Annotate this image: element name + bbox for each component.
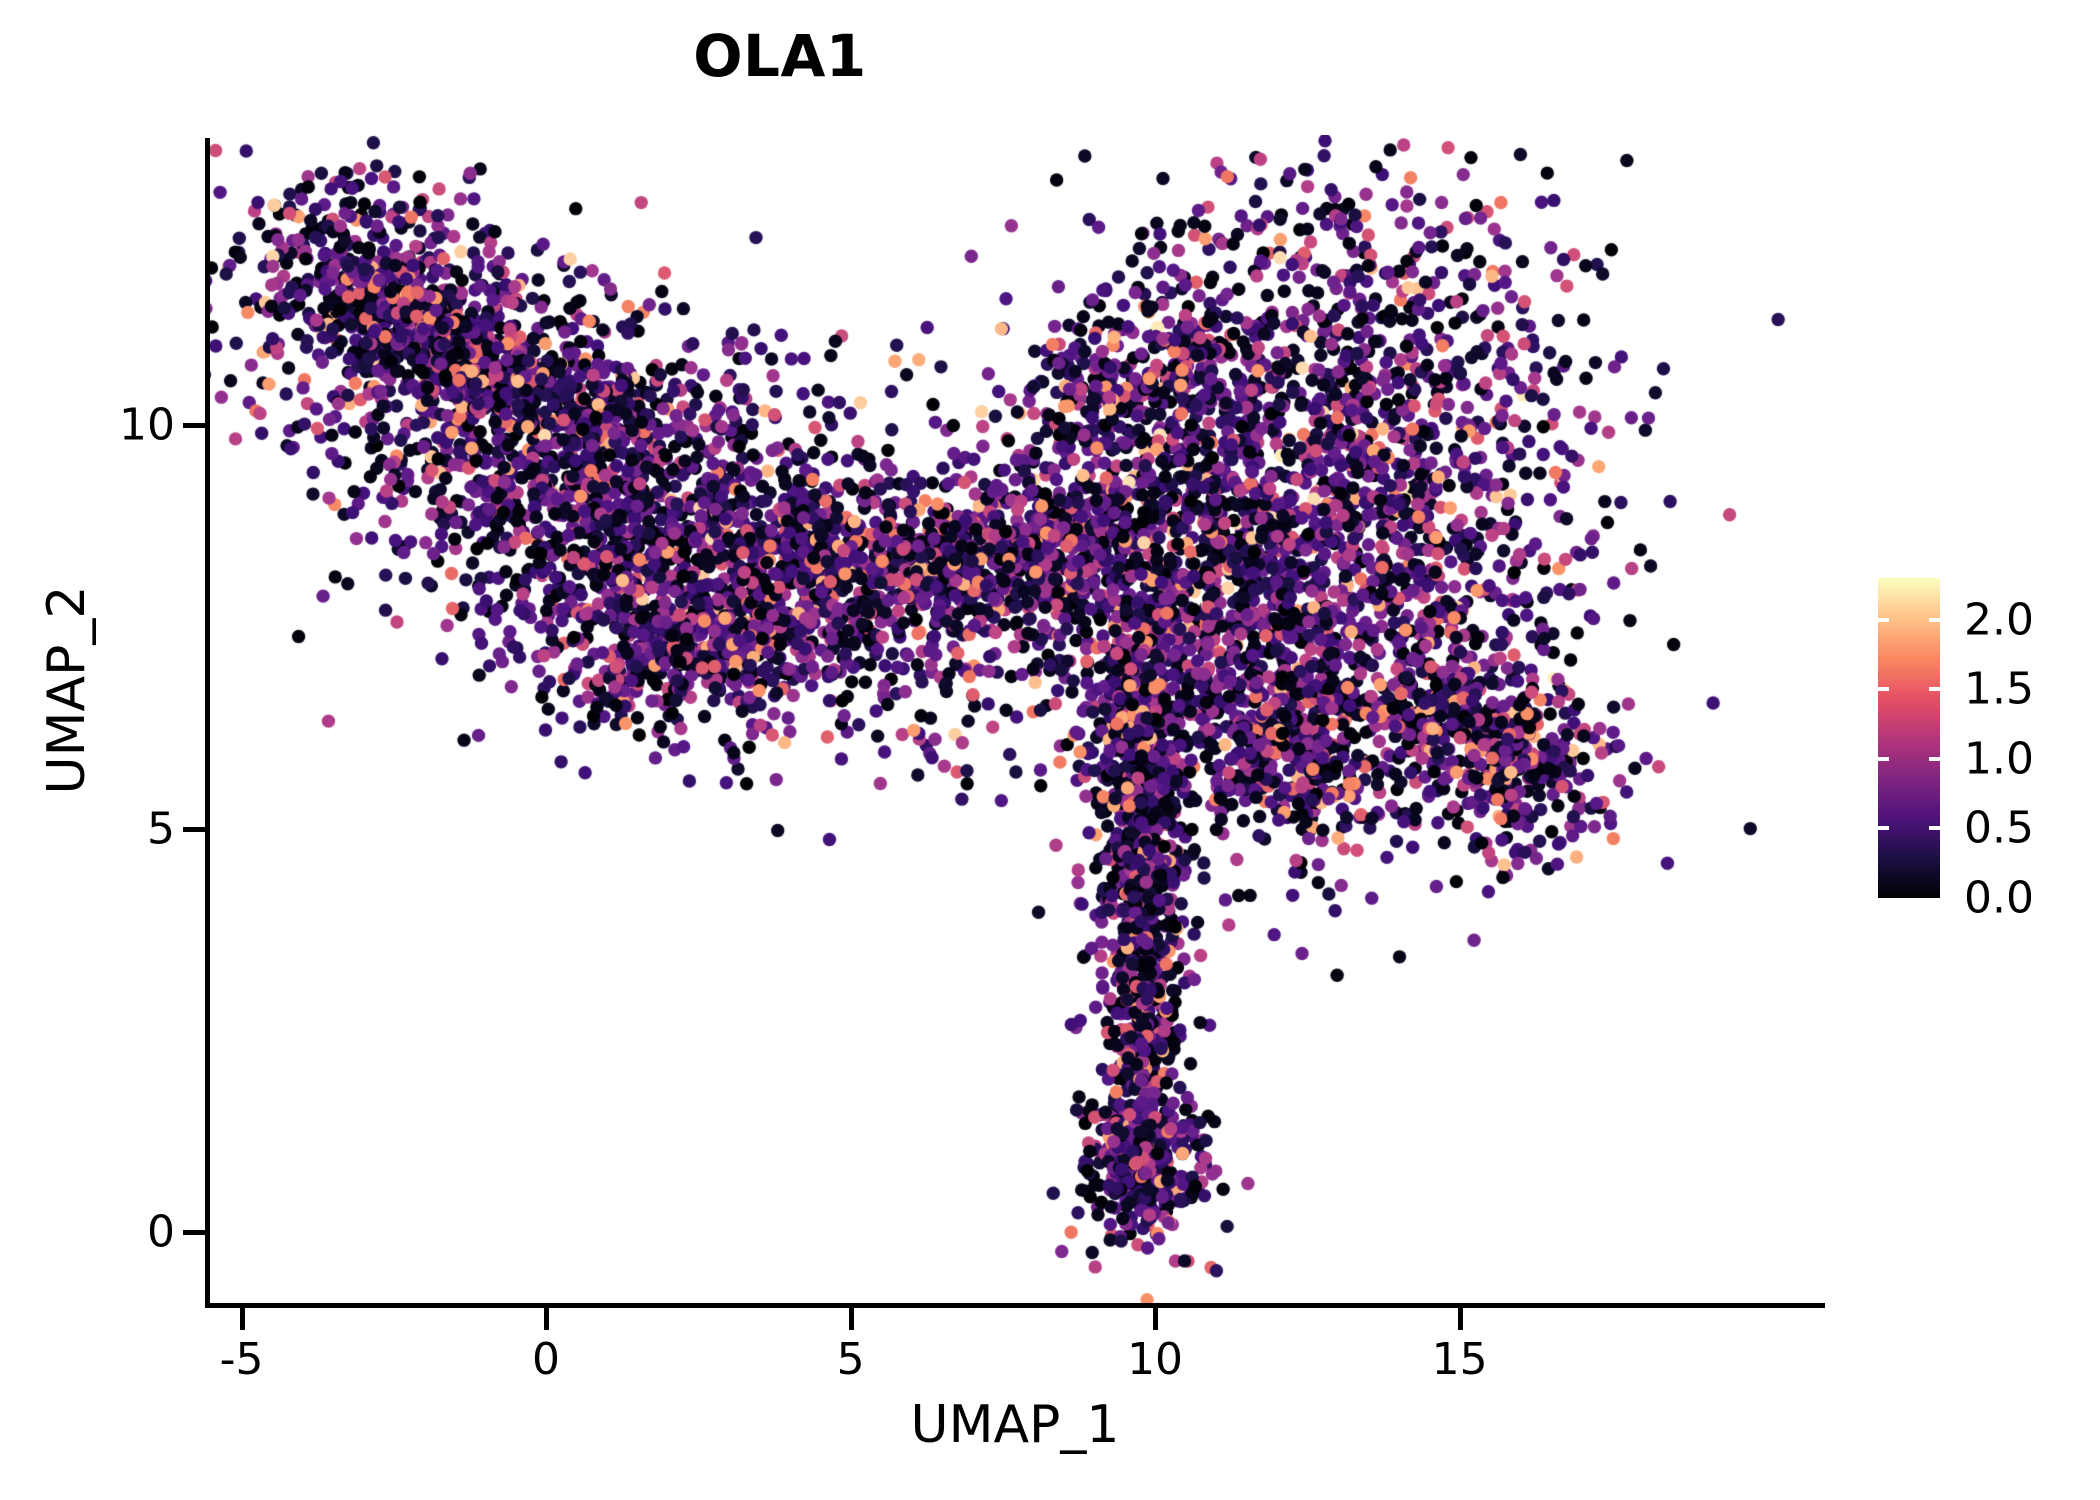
colorbar-tick-mark: [1878, 757, 1889, 761]
colorbar-tick-label: 0.5: [1964, 803, 2034, 854]
y-tick-label: 10: [119, 400, 175, 451]
y-axis-line: [205, 138, 210, 1308]
colorbar-tick-mark: [1878, 618, 1889, 622]
x-tick-label: 5: [837, 1334, 865, 1385]
x-tick-mark: [544, 1308, 549, 1330]
x-axis-label: UMAP_1: [205, 1395, 1825, 1455]
y-tick-label: 5: [147, 803, 175, 854]
colorbar-tick-label: 2.0: [1964, 594, 2034, 645]
colorbar-tick-mark: [1929, 826, 1940, 830]
colorbar-tick-mark: [1929, 757, 1940, 761]
colorbar[interactable]: 0.00.51.01.52.0: [1878, 578, 2078, 900]
colorbar-tick-label: 1.0: [1964, 733, 2034, 784]
x-tick-label: 0: [532, 1334, 560, 1385]
colorbar-tick-mark: [1929, 687, 1940, 691]
colorbar-tick-label: 1.5: [1964, 664, 2034, 715]
x-tick-mark: [240, 1308, 245, 1330]
colorbar-gradient: [1878, 578, 1940, 898]
x-tick-mark: [1458, 1308, 1463, 1330]
colorbar-tick-mark: [1878, 826, 1889, 830]
x-tick-mark: [1153, 1308, 1158, 1330]
x-tick-label: -5: [220, 1334, 264, 1385]
scatter-points-canvas: [205, 135, 1825, 1305]
y-tick-mark: [183, 827, 205, 832]
scatter-plot-area[interactable]: [205, 135, 1825, 1305]
x-tick-label: 15: [1432, 1334, 1488, 1385]
x-tick-mark: [849, 1308, 854, 1330]
x-axis-line: [205, 1303, 1825, 1308]
y-axis-label: UMAP_2: [37, 105, 97, 1275]
page-title: OLA1: [0, 22, 1560, 90]
x-tick-label: 10: [1127, 1334, 1183, 1385]
y-tick-mark: [183, 1230, 205, 1235]
umap-figure: OLA1 0510 -5051015 UMAP_1 UMAP_2 0.00.51…: [0, 0, 2100, 1500]
colorbar-tick-label: 0.0: [1964, 873, 2034, 924]
colorbar-tick-mark: [1929, 618, 1940, 622]
colorbar-tick-mark: [1878, 687, 1889, 691]
y-tick-label: 0: [147, 1207, 175, 1258]
y-tick-mark: [183, 423, 205, 428]
